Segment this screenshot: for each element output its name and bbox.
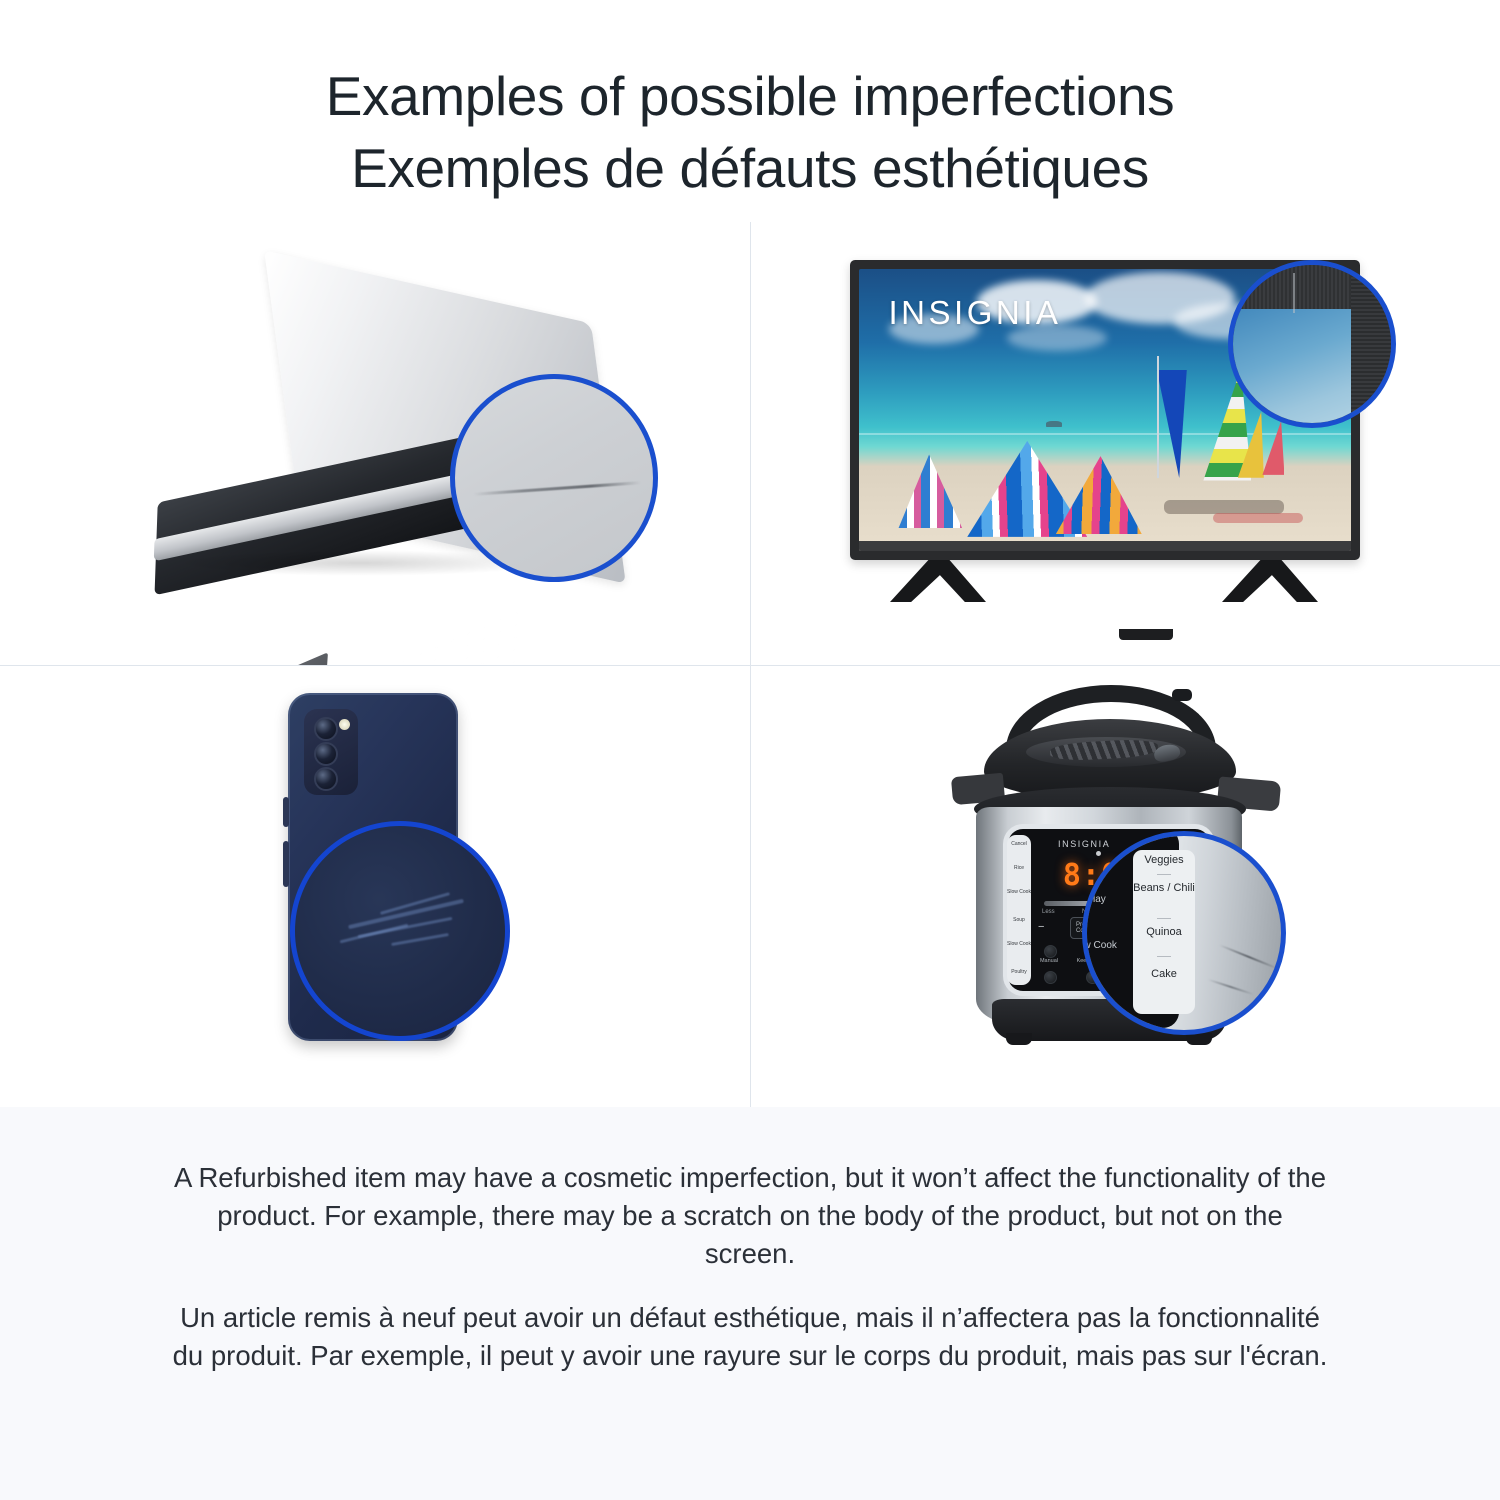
cooker-foot	[1006, 1033, 1032, 1045]
phone-magnifier-circle	[290, 821, 510, 1041]
page-title-english: Examples of possible imperfections	[40, 60, 1460, 132]
camera-flash-icon	[339, 719, 350, 730]
camera-lens-icon	[314, 767, 338, 791]
cooker-magnified-divider	[1157, 956, 1171, 958]
description-french: Un article remis à neuf peut avoir un dé…	[170, 1299, 1330, 1375]
cooker-left-label: Rice	[1007, 865, 1031, 871]
cooker-left-label: Slow Cook	[1007, 941, 1031, 947]
page-title-french: Exemples de défauts esthétiques	[40, 132, 1460, 204]
cooker-magnified-divider	[1157, 874, 1171, 876]
tv-magnified-screen	[1228, 305, 1357, 428]
footer-description: A Refurbished item may have a cosmetic i…	[0, 1107, 1500, 1500]
cooker-magnified-label: Veggies	[1133, 854, 1195, 866]
tv-badge	[1119, 629, 1173, 640]
phone-power-button	[283, 841, 289, 887]
grid-cell-pressure-cooker: INSIGNIA 8:00 Less Normal More − Pressur…	[750, 665, 1500, 1108]
grid-cell-laptop	[0, 222, 750, 665]
pressure-cooker-illustration: INSIGNIA 8:00 Less Normal More − Pressur…	[750, 665, 1500, 1108]
grid-cell-television: INSIGNIA	[750, 222, 1500, 665]
distant-boat	[1046, 421, 1062, 427]
television-illustration: INSIGNIA	[750, 222, 1500, 665]
cooker-scratch-mark	[1219, 944, 1279, 970]
laptop-magnifier-circle	[450, 374, 658, 582]
phone-volume-button	[283, 797, 289, 827]
camera-lens-icon	[314, 717, 338, 741]
header: Examples of possible imperfections Exemp…	[0, 0, 1500, 222]
phone-camera-module	[304, 709, 358, 795]
cooker-minus-button[interactable]: −	[1038, 921, 1044, 933]
blue-sailboat	[1141, 370, 1188, 478]
laptop-touchpad	[234, 652, 328, 664]
tv-stand-leg-left	[890, 560, 986, 602]
cooker-left-button-strip[interactable]: Cancel Rice Slow Cook Soup Slow Cook Pou…	[1007, 835, 1031, 985]
tv-brand-logo: INSIGNIA	[889, 294, 1062, 332]
cooker-magnified-left-label: Slow Cook	[1082, 940, 1121, 951]
beach-kite	[898, 454, 962, 528]
beach-object	[1213, 513, 1303, 523]
cooker-magnified-left-label: Delay	[1082, 894, 1121, 905]
laptop-keyboard	[319, 597, 529, 665]
smartphone-illustration	[0, 665, 750, 1108]
cooker-magnified-label: Cake	[1133, 968, 1195, 980]
tv-magnified-bezel-corner	[1351, 265, 1396, 428]
phone-scratch-mark	[391, 932, 449, 945]
cooker-magnified-divider	[1157, 918, 1171, 920]
red-sail	[1262, 421, 1284, 475]
camera-lens-icon	[314, 742, 338, 766]
examples-grid: INSIGNIA	[0, 222, 1500, 1107]
cooker-label: Manual	[1032, 958, 1066, 964]
cooker-magnified-label: Quinoa	[1133, 926, 1195, 938]
cooker-button[interactable]	[1044, 945, 1057, 958]
laptop-scratch-mark	[473, 481, 641, 496]
beach-kite	[1056, 456, 1142, 534]
sailboat-mast	[1157, 356, 1159, 478]
cooker-level-label-less: Less	[1042, 909, 1055, 915]
tv-scratch-mark	[1293, 273, 1295, 313]
cooker-magnifier-circle: Delay Slow Cook Veggies Beans / Chili Qu…	[1082, 831, 1286, 1035]
cooker-scratch-mark	[1208, 978, 1254, 994]
laptop-illustration	[0, 222, 750, 665]
refurbished-imperfections-infographic: Examples of possible imperfections Exemp…	[0, 0, 1500, 1500]
cooker-button[interactable]	[1044, 971, 1057, 984]
cooker-left-label: Poultry	[1007, 969, 1031, 975]
cooker-left-label: Slow Cook	[1007, 889, 1031, 895]
grid-cell-smartphone	[0, 665, 750, 1108]
tv-stand-leg-right	[1222, 560, 1318, 602]
cooker-left-label: Cancel	[1007, 841, 1031, 847]
cooker-left-label: Soup	[1007, 917, 1031, 923]
cooker-magnified-label: Beans / Chili	[1133, 882, 1195, 894]
tv-screen-chin	[859, 541, 1351, 551]
tv-magnifier-circle	[1228, 260, 1396, 428]
description-english: A Refurbished item may have a cosmetic i…	[170, 1159, 1330, 1273]
cooker-knob	[1172, 689, 1192, 701]
